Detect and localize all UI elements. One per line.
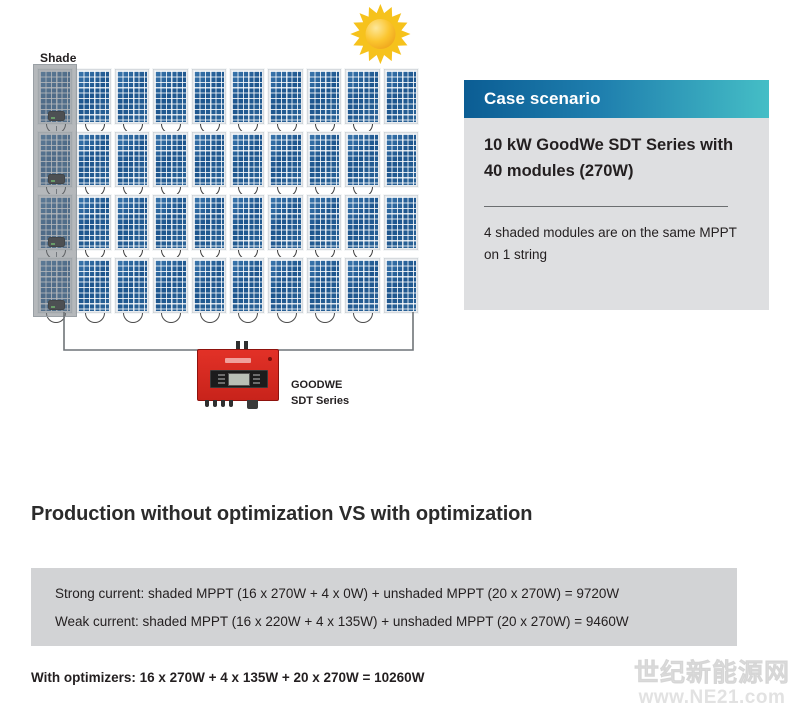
panel-cells (309, 197, 339, 248)
inverter-left-keys (218, 374, 225, 384)
comparison-line-weak-current: Weak current: shaded MPPT (16 x 220W + 4… (55, 614, 629, 629)
solar-panel (267, 131, 303, 188)
comparison-line-strong-current: Strong current: shaded MPPT (16 x 270W +… (55, 586, 619, 601)
solar-panel (267, 68, 303, 125)
solar-panel (191, 131, 227, 188)
solar-panel (114, 257, 150, 314)
case-scenario-note: 4 shaded modules are on the same MPPT on… (484, 222, 742, 266)
solar-panel (75, 257, 111, 314)
case-scenario-headline: 10 kW GoodWe SDT Series with 40 modules … (484, 132, 746, 184)
case-scenario-card: Case scenario 10 kW GoodWe SDT Series wi… (464, 80, 769, 310)
power-optimizer-icon (49, 301, 64, 309)
panel-cells (270, 197, 300, 248)
inverter-lcd (228, 373, 250, 386)
watermark-english: www.NE21.com (634, 687, 790, 708)
solar-panel (344, 257, 380, 314)
panel-cells (194, 260, 224, 311)
solar-panel (267, 257, 303, 314)
solar-panel (229, 257, 265, 314)
inverter-ports (205, 400, 271, 408)
panel-cells (347, 197, 377, 248)
panel-interconnect-loop (161, 313, 181, 323)
panel-interconnect-loop (277, 313, 297, 323)
solar-panel (306, 68, 342, 125)
panel-cells (232, 197, 262, 248)
solar-panel (383, 194, 419, 251)
panel-cells (232, 134, 262, 185)
solar-panel (306, 257, 342, 314)
production-comparison-box: Strong current: shaded MPPT (16 x 270W +… (31, 568, 737, 646)
solar-panel (152, 68, 188, 125)
solar-panel (306, 131, 342, 188)
panel-cells (155, 134, 185, 185)
solar-panel (152, 194, 188, 251)
panel-interconnect-loop (123, 313, 143, 323)
solar-panel (344, 68, 380, 125)
panel-cells (117, 260, 147, 311)
solar-panel (267, 194, 303, 251)
panel-row (37, 68, 421, 125)
panel-interconnect-loop (238, 313, 258, 323)
solar-panel (229, 68, 265, 125)
panel-cells (347, 134, 377, 185)
with-optimizers-line: With optimizers: 16 x 270W + 4 x 135W + … (31, 670, 424, 685)
inverter-brand: GOODWE (291, 377, 349, 393)
panel-cells (78, 134, 108, 185)
panel-cells (309, 260, 339, 311)
power-optimizer-icon (49, 175, 64, 183)
panel-cells (194, 197, 224, 248)
case-scenario-title: Case scenario (464, 89, 601, 109)
panel-cells (78, 260, 108, 311)
panel-cells (78, 71, 108, 122)
solar-panel (152, 131, 188, 188)
solar-panel (191, 68, 227, 125)
solar-panel (229, 131, 265, 188)
panel-cells (386, 260, 416, 311)
solar-panel (114, 68, 150, 125)
panel-cells (155, 260, 185, 311)
panel-cells (347, 71, 377, 122)
panel-interconnect-loop (315, 313, 335, 323)
solar-panel (306, 194, 342, 251)
panel-cells (155, 71, 185, 122)
solar-panel-shaded (37, 257, 73, 314)
solar-panel (75, 68, 111, 125)
sun-icon (350, 4, 412, 66)
solar-panel (75, 194, 111, 251)
shade-label: Shade (40, 51, 77, 65)
panel-cells (309, 71, 339, 122)
panel-cells (347, 260, 377, 311)
panel-cells (232, 71, 262, 122)
case-scenario-header: Case scenario (464, 80, 769, 118)
panel-interconnect-loop (46, 313, 66, 323)
panel-cells (194, 134, 224, 185)
panel-cells (194, 71, 224, 122)
case-scenario-divider (484, 206, 728, 207)
solar-panel (191, 194, 227, 251)
panel-row (37, 194, 421, 251)
solar-panel (75, 131, 111, 188)
solar-panel (383, 131, 419, 188)
panel-cells (78, 197, 108, 248)
watermark: 世纪新能源网 www.NE21.com (634, 660, 790, 708)
solar-panel (383, 257, 419, 314)
inverter-label: GOODWE SDT Series (291, 377, 349, 409)
panel-cells (232, 260, 262, 311)
watermark-chinese: 世纪新能源网 (634, 660, 790, 687)
production-heading: Production without optimization VS with … (31, 503, 532, 526)
inverter-series: SDT Series (291, 393, 349, 409)
solar-panel (114, 194, 150, 251)
solar-panel (114, 131, 150, 188)
panel-cells (386, 71, 416, 122)
panel-cells (270, 134, 300, 185)
panel-interconnect-loop (85, 313, 105, 323)
panel-cells (386, 134, 416, 185)
inverter-right-keys (253, 374, 260, 384)
panel-cells (155, 197, 185, 248)
panel-cells (309, 134, 339, 185)
inverter-display (210, 370, 268, 388)
panel-cells (117, 71, 147, 122)
solar-panel (191, 257, 227, 314)
panel-cells (386, 197, 416, 248)
panel-cells (117, 197, 147, 248)
panel-interconnect-loop (353, 313, 373, 323)
panel-cells (270, 260, 300, 311)
panel-interconnect-loop (200, 313, 220, 323)
solar-panel (344, 194, 380, 251)
solar-panel (229, 194, 265, 251)
inverter-logo (225, 358, 251, 363)
panel-cells (270, 71, 300, 122)
panel-row (37, 131, 421, 188)
inverter-device (197, 349, 279, 401)
solar-panel-shaded (37, 68, 73, 125)
inverter-led-icon (268, 357, 272, 361)
panel-cells (117, 134, 147, 185)
solar-panel-shaded (37, 194, 73, 251)
solar-panel-shaded (37, 131, 73, 188)
panel-row (37, 257, 421, 314)
solar-panel-array (37, 68, 421, 313)
power-optimizer-icon (49, 112, 64, 120)
power-optimizer-icon (49, 238, 64, 246)
solar-panel (383, 68, 419, 125)
solar-panel (152, 257, 188, 314)
solar-panel (344, 131, 380, 188)
